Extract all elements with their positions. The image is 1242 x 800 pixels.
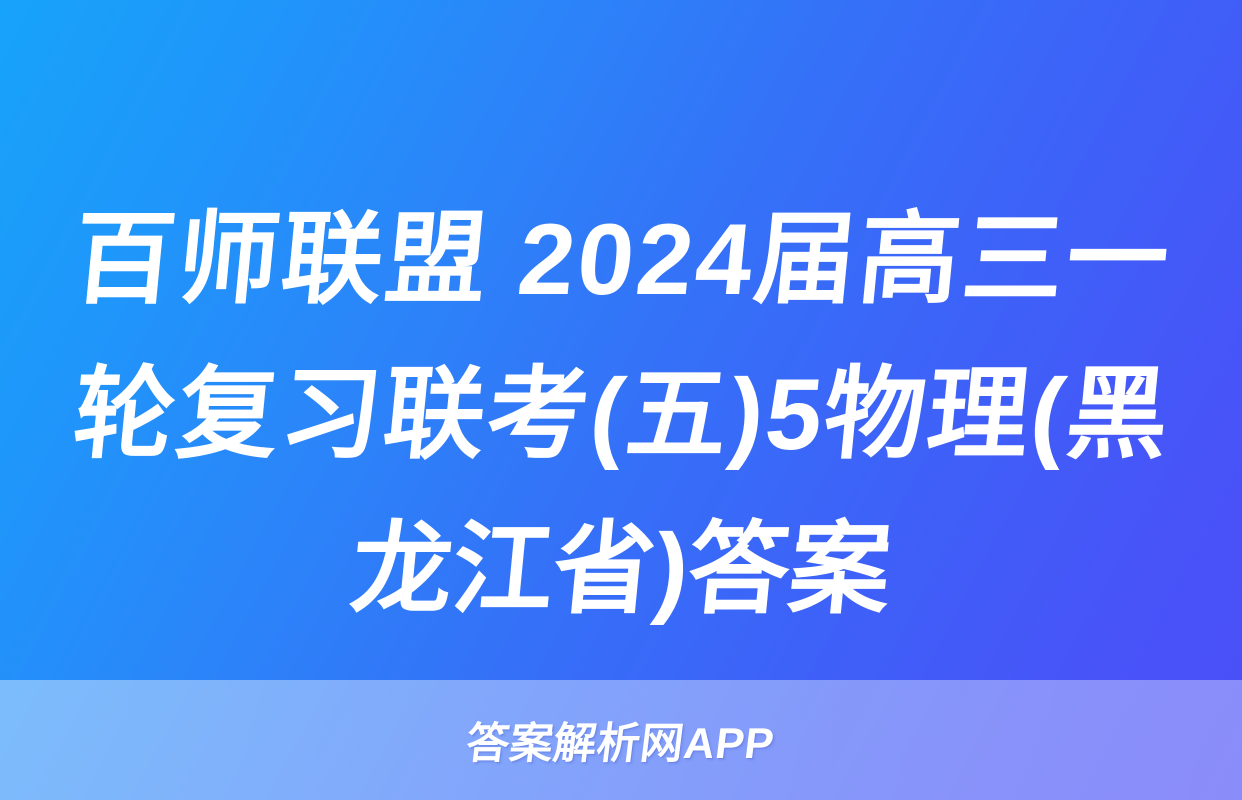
- footer-watermark-band: 答案解析网APP: [0, 680, 1242, 800]
- title-char: 复: [170, 338, 286, 493]
- title-char: 联: [377, 338, 493, 493]
- title-char: 物: [817, 338, 933, 493]
- title-char: 联: [274, 183, 390, 338]
- title-char: 龙: [344, 493, 460, 648]
- title-char: 答: [681, 493, 797, 648]
- title-char: 高: [852, 183, 968, 338]
- title-char: 盟: [378, 183, 494, 338]
- title-char: 考: [480, 338, 596, 493]
- title-line-1: 百 师 联 盟 2 0 2 4 届 高 三 一: [67, 183, 1176, 338]
- title-char: 百: [67, 183, 183, 338]
- watermark-text: 答案解析网APP: [463, 709, 778, 771]
- title-char: 黑: [1060, 338, 1176, 493]
- title-char: 届: [748, 183, 864, 338]
- poster-canvas: 百 师 联 盟 2 0 2 4 届 高 三 一 轮 复 习 联 考 ( 五 ) …: [0, 0, 1242, 800]
- title-char: 轮: [67, 338, 183, 493]
- title-line-2: 轮 复 习 联 考 ( 五 ) 5 物 理 ( 黑: [67, 338, 1176, 493]
- title-char: 一: [1059, 183, 1175, 338]
- poster-title-block: 百 师 联 盟 2 0 2 4 届 高 三 一 轮 复 习 联 考 ( 五 ) …: [74, 183, 1168, 648]
- title-char: 五: [619, 338, 735, 493]
- title-char: 师: [170, 183, 286, 338]
- title-char: 习: [273, 338, 389, 493]
- title-char: 案: [782, 493, 898, 648]
- title-char: 省: [546, 493, 662, 648]
- title-line-3: 龙 江 省 ) 答 案: [67, 493, 1176, 648]
- title-char: 江: [445, 493, 561, 648]
- title-char: 理: [920, 338, 1036, 493]
- title-char: 三: [955, 183, 1071, 338]
